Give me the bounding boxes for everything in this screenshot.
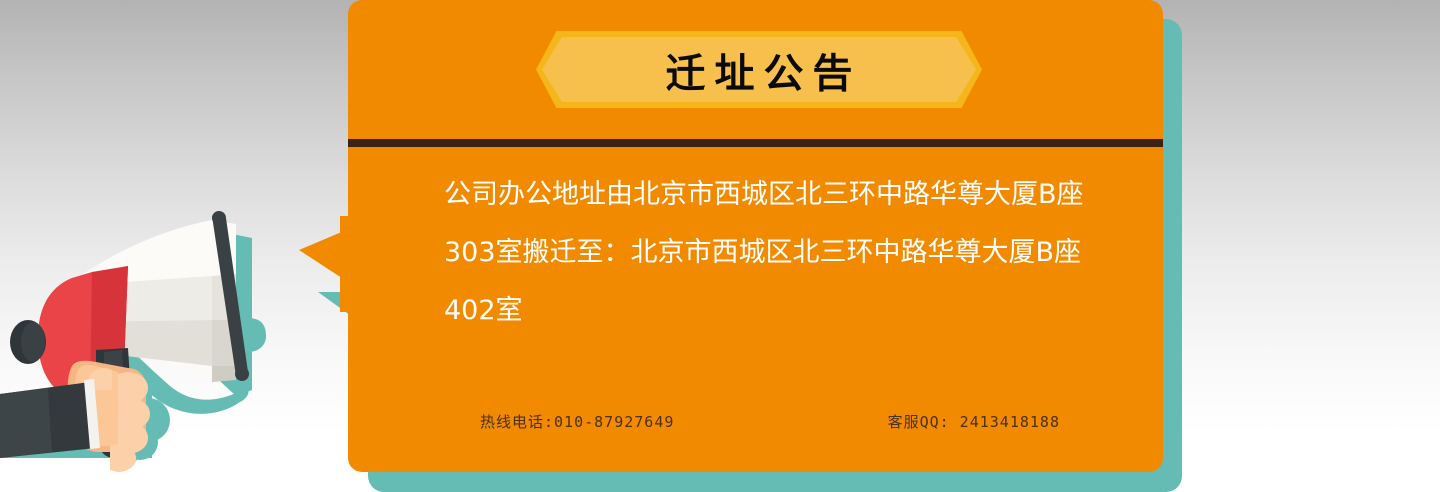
announcement-banner: 迁址公告 公司办公地址由北京市西城区北三环中路华尊大厦B座303室搬迁至：北京市… [0, 0, 1440, 492]
contact-footer: 热线电话:010-87927649 客服QQ: 2413418188 [480, 411, 1060, 432]
megaphone-illustration [0, 190, 340, 492]
hotline-text: 热线电话:010-87927649 [480, 411, 674, 432]
header-divider [348, 139, 1163, 147]
title-badge: 迁址公告 [536, 31, 982, 108]
announcement-body: 公司办公地址由北京市西城区北三环中路华尊大厦B座303室搬迁至：北京市西城区北三… [444, 166, 1094, 340]
qq-text: 客服QQ: 2413418188 [888, 411, 1060, 432]
page-title: 迁址公告 [536, 31, 982, 108]
megaphone-knob [10, 320, 46, 364]
sleeve [0, 379, 100, 458]
